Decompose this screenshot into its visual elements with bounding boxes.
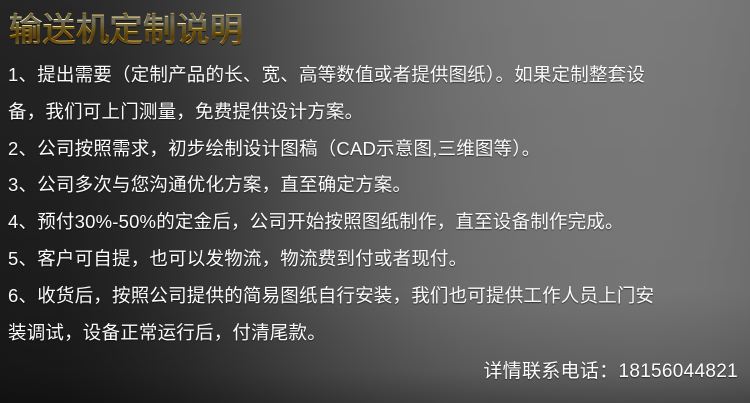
instruction-line-1a: 1、提出需要（定制产品的长、宽、高等数值或者提供图纸）。如果定制整套设	[8, 57, 744, 94]
instruction-line-6b: 装调试，设备正常运行后，付清尾款。	[8, 315, 744, 352]
conveyor-customization-banner: 输送机定制说明 1、提出需要（定制产品的长、宽、高等数值或者提供图纸）。如果定制…	[0, 0, 750, 403]
instruction-line-5: 5、客户可自提，也可以发物流，物流费到付或者现付。	[8, 241, 744, 278]
page-title: 输送机定制说明	[9, 11, 244, 49]
instructions-list: 1、提出需要（定制产品的长、宽、高等数值或者提供图纸）。如果定制整套设 备，我们…	[8, 57, 744, 351]
instruction-line-6a: 6、收货后，按照公司提供的简易图纸自行安装，我们也可提供工作人员上门安	[8, 278, 744, 315]
instruction-line-2: 2、公司按照需求，初步绘制设计图稿（CAD示意图,三维图等）。	[8, 131, 744, 168]
banner-content: 输送机定制说明 1、提出需要（定制产品的长、宽、高等数值或者提供图纸）。如果定制…	[0, 0, 750, 403]
instruction-line-4: 4、预付30%-50%的定金后，公司开始按照图纸制作，直至设备制作完成。	[8, 204, 744, 241]
instruction-line-3: 3、公司多次与您沟通优化方案，直至确定方案。	[8, 167, 744, 204]
banner-title-wrap: 输送机定制说明	[9, 11, 244, 49]
contact-phone-footer: 详情联系电话：18156044821	[483, 356, 738, 383]
instruction-line-1b: 备，我们可上门测量，免费提供设计方案。	[8, 94, 744, 131]
